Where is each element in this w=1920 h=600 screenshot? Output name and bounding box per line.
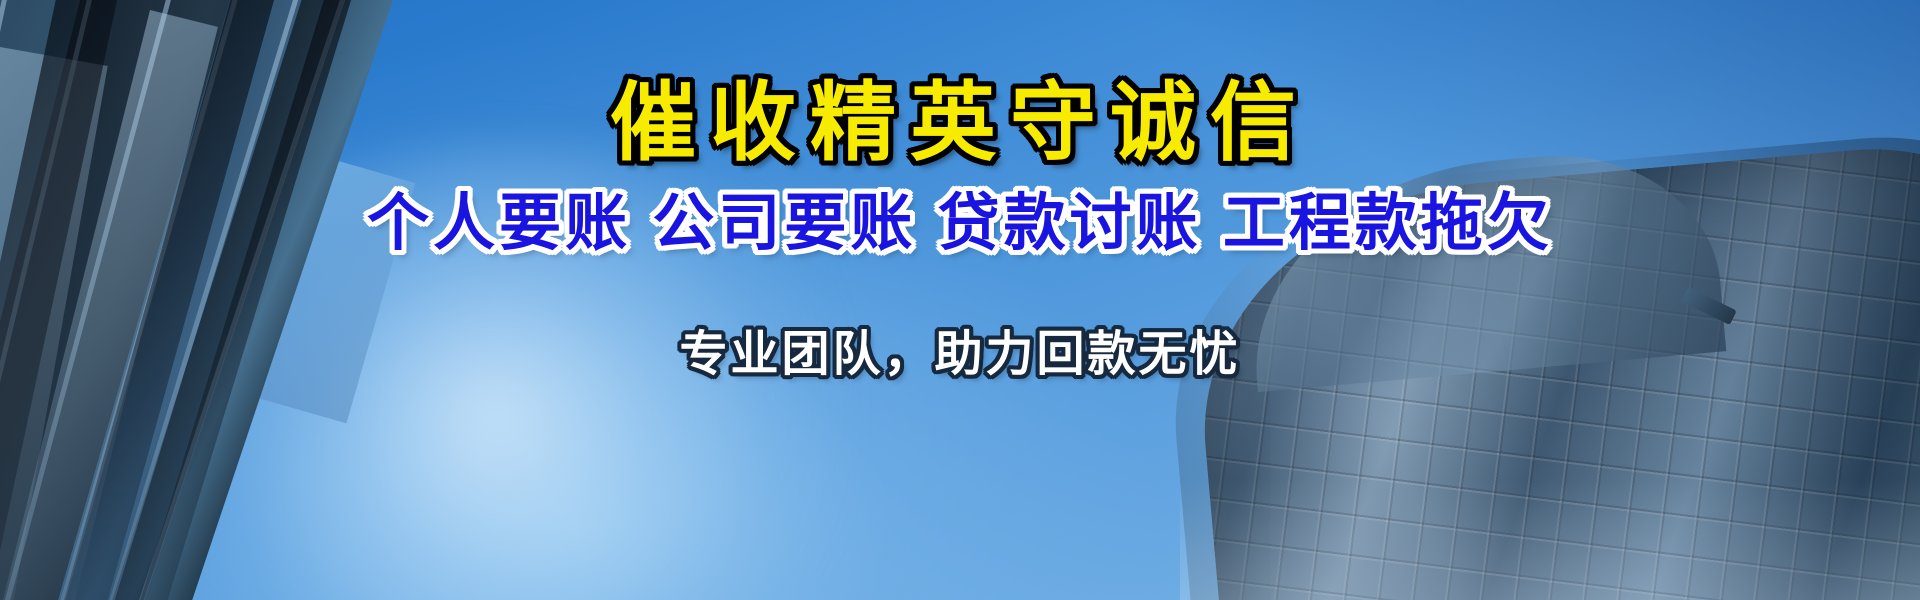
right-building [1060, 130, 1920, 600]
promotional-banner: 催收精英守诚信 个人要账 公司要账 贷款讨账 工程款拖欠 专业团队，助力回款无忧 [0, 0, 1920, 600]
right-building-base-glow [1180, 480, 1920, 600]
left-building [0, 0, 470, 600]
